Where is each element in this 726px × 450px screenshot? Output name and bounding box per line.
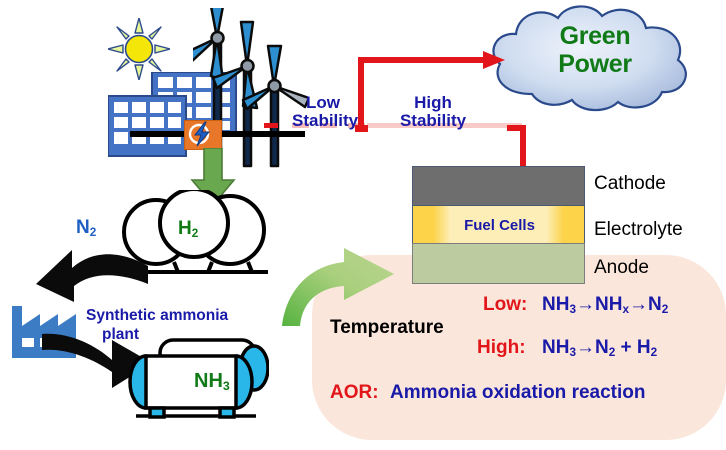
low-reaction-label: Low: xyxy=(483,295,527,315)
high-reaction-equation: NH3→N2 + H2 xyxy=(542,338,657,358)
nh3-label: NH3 xyxy=(194,371,230,392)
low-stability-line2: Stability xyxy=(292,111,358,130)
aor-expansion: Ammonia oxidation reaction xyxy=(390,383,645,403)
electrolyte-label: Electrolyte xyxy=(594,220,683,240)
low-stability-line1: Low xyxy=(306,93,340,112)
low-reaction-equation: NH3→NHx→N2 xyxy=(542,295,668,315)
h2-subscript: 2 xyxy=(192,227,199,240)
n2-flow-arrow xyxy=(30,228,150,303)
plant-label-line2: plant xyxy=(102,325,139,344)
cathode-label: Cathode xyxy=(594,174,666,194)
power-bus-bar-right xyxy=(245,131,305,137)
h2-symbol: H xyxy=(178,218,192,239)
cathode-layer xyxy=(412,166,585,206)
lightning-bolt-icon xyxy=(184,120,222,150)
nh3-symbol: NH xyxy=(194,370,223,392)
aor-label: AOR: xyxy=(330,383,379,403)
plant-label-line1: Synthetic ammonia xyxy=(86,307,228,324)
diagram-canvas: Green Power xyxy=(0,0,726,450)
sun-icon xyxy=(108,18,170,80)
electrolyte-layer: Fuel Cells xyxy=(412,205,585,244)
red-circuit-path xyxy=(355,48,555,178)
anode-label: Anode xyxy=(594,258,649,278)
cloud-label-line1: Green xyxy=(520,22,670,50)
high-reaction-label: High: xyxy=(477,338,526,358)
low-stability-label: Low Stability xyxy=(292,94,354,130)
n2-label: N2 xyxy=(76,218,96,238)
synthetic-ammonia-plant-label: Synthetic ammonia plant xyxy=(86,306,228,345)
nh3-subscript: 3 xyxy=(223,379,230,393)
fuel-cells-label: Fuel Cells xyxy=(413,217,586,234)
n2-subscript: 2 xyxy=(90,226,97,239)
temperature-flow-arrow xyxy=(282,248,397,328)
fuel-cell-stack: Fuel Cells xyxy=(412,166,585,284)
h2-label: H2 xyxy=(178,219,198,239)
low-stability-dash-1 xyxy=(264,123,278,128)
n2-symbol: N xyxy=(76,217,90,238)
anode-layer xyxy=(412,243,585,284)
temperature-label: Temperature xyxy=(330,318,444,338)
